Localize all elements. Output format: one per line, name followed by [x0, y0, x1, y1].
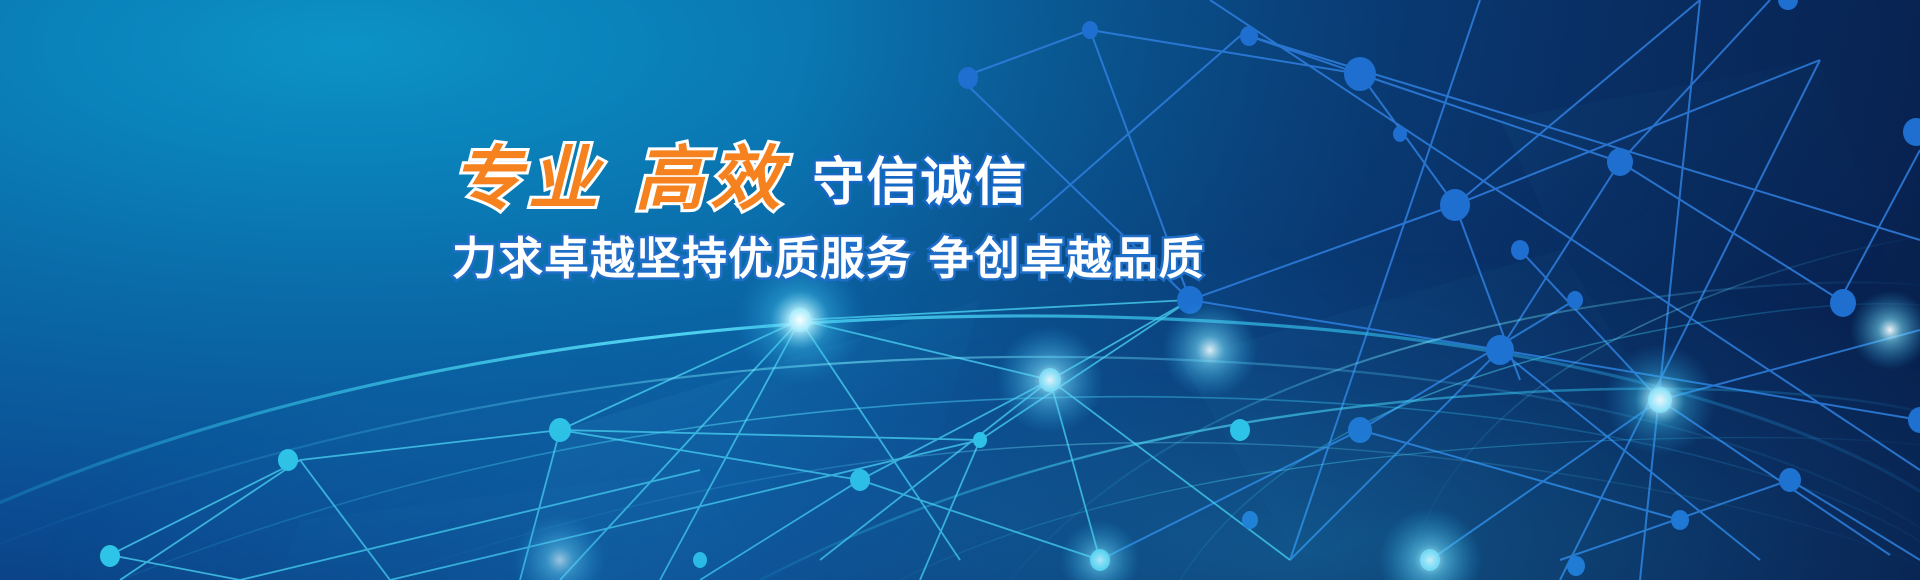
bottom-glow-overlay — [0, 0, 1920, 580]
hero-banner: 专业 高效 守信诚信 力求卓越坚持优质服务 争创卓越品质 — [0, 0, 1920, 580]
